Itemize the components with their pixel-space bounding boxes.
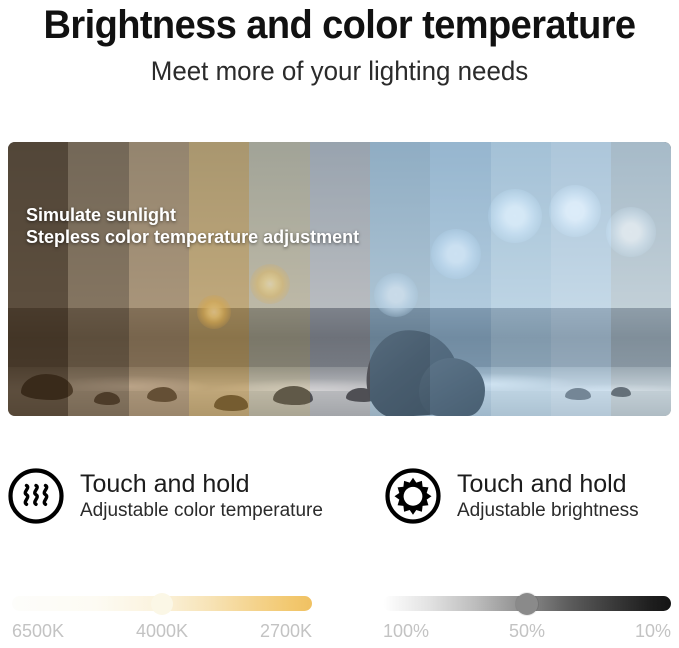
brightness-slider-labels: 100% 50% 10% [383, 620, 671, 642]
band-3200k [129, 142, 189, 416]
tick-label-middle: 50% [509, 620, 545, 642]
tick-label-end: 10% [635, 620, 671, 642]
brightness-slider-track[interactable] [383, 596, 671, 611]
sun-brightness-icon [383, 466, 443, 526]
heat-waves-icon [6, 466, 66, 526]
hero-caption-line-2: Stepless color temperature adjustment [26, 226, 359, 248]
page-title: Brightness and color temperature [17, 2, 662, 48]
hero-caption-line-1: Simulate sunlight [26, 204, 359, 226]
band-5500k [430, 142, 490, 416]
color-temperature-slider[interactable]: 6500K 4000K 2700K [12, 596, 312, 642]
band-2700k-warmest [8, 142, 68, 416]
tick-label-start: 6500K [12, 620, 64, 642]
band-4500k-neutral [310, 142, 370, 416]
feature-color-temperature: Touch and hold Adjustable color temperat… [6, 466, 323, 526]
feature-color-temperature-text: Touch and hold Adjustable color temperat… [80, 470, 323, 523]
tick-label-middle: 4000K [136, 620, 188, 642]
band-3600k [189, 142, 249, 416]
tick-label-end: 2700K [260, 620, 312, 642]
band-6000k [491, 142, 551, 416]
feature-subtitle: Adjustable color temperature [80, 499, 323, 523]
band-6500k-coolest [611, 142, 671, 416]
hero-caption: Simulate sunlight Stepless color tempera… [26, 204, 359, 248]
page-subtitle: Meet more of your lighting needs [14, 55, 666, 87]
band-6200k [551, 142, 611, 416]
brightness-slider[interactable]: 100% 50% 10% [383, 596, 671, 642]
color-temperature-slider-labels: 6500K 4000K 2700K [12, 620, 312, 642]
band-4000k [249, 142, 309, 416]
feature-title: Touch and hold [457, 470, 639, 499]
feature-brightness-text: Touch and hold Adjustable brightness [457, 470, 639, 523]
product-feature-page: Brightness and color temperature Meet mo… [0, 0, 679, 648]
color-temperature-slider-knob[interactable] [151, 593, 173, 615]
hero-image: Simulate sunlight Stepless color tempera… [8, 142, 671, 416]
band-2900k [68, 142, 128, 416]
feature-subtitle: Adjustable brightness [457, 499, 639, 523]
band-5000k [370, 142, 430, 416]
feature-title: Touch and hold [80, 470, 323, 499]
brightness-slider-knob[interactable] [516, 593, 538, 615]
feature-brightness: Touch and hold Adjustable brightness [383, 466, 639, 526]
tick-label-start: 100% [383, 620, 429, 642]
color-temperature-slider-track[interactable] [12, 596, 312, 611]
